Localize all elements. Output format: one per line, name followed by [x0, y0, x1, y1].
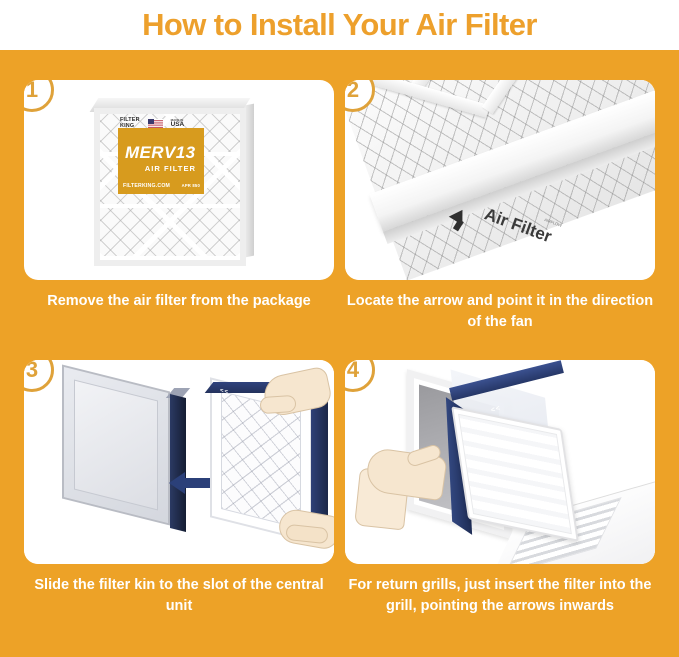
air-filter-subtitle: AIR FILTER	[123, 164, 196, 173]
step-3-artwork: <<	[24, 360, 334, 564]
label-footer: FILTERKING.COM APR 850	[123, 183, 200, 189]
merv-label-sticker: MERV13 AIR FILTER FILTERKING.COM APR 850	[118, 128, 204, 194]
page-title: How to Install Your Air Filter	[142, 7, 537, 43]
brand-row: FILTER KING MADE IN USA	[120, 117, 240, 129]
step-2-card: Air Filter AIRFLOW 2	[345, 80, 655, 280]
usa-flag-icon	[148, 119, 163, 128]
step-4-caption: For return grills, just insert the filte…	[345, 575, 655, 616]
step-1: FILTER KING MADE IN USA	[24, 80, 334, 312]
step-2-number: 2	[347, 80, 359, 101]
steps-grid: FILTER KING MADE IN USA	[0, 50, 679, 657]
unit-inner-panel	[74, 380, 158, 511]
step-3-card: << 3	[24, 360, 334, 564]
filter-king-logo: FILTER KING	[120, 117, 140, 129]
brand-line-1: FILTER	[120, 117, 140, 123]
step-4: << 4 For return grills, just insert the …	[345, 360, 655, 616]
step-1-number: 1	[26, 80, 38, 101]
website-text: FILTERKING.COM	[123, 183, 170, 189]
step-4-card: << 4	[345, 360, 655, 564]
filter-front-face: FILTER KING MADE IN USA	[94, 108, 246, 266]
merv-rating-text: MERV13	[125, 144, 199, 161]
step-3-number: 3	[26, 360, 38, 381]
step-4-number: 4	[347, 360, 359, 381]
step-2: Air Filter AIRFLOW 2 Locate the arrow an…	[345, 80, 655, 332]
central-unit-slot	[62, 365, 170, 526]
step-4-artwork: <<	[345, 360, 655, 564]
poster-body: FILTER KING MADE IN USA	[0, 50, 679, 657]
apr-rating-text: APR 850	[182, 183, 200, 188]
hand-upper-fingers	[259, 395, 296, 414]
infographic-poster: How to Install Your Air Filter	[0, 0, 679, 657]
made-in-usa-text: MADE IN USA	[171, 119, 185, 128]
grill-slats	[458, 414, 572, 535]
step-3-caption: Slide the filter kin to the slot of the …	[24, 575, 334, 616]
country-label: USA	[171, 121, 185, 128]
filter-corner-photo: Air Filter AIRFLOW	[345, 80, 655, 280]
step-2-caption: Locate the arrow and point it in the dir…	[345, 291, 655, 332]
poster-header: How to Install Your Air Filter	[0, 0, 679, 50]
step-1-artwork: FILTER KING MADE IN USA	[24, 80, 334, 280]
unit-slot-opening	[170, 394, 186, 532]
step-2-artwork: Air Filter AIRFLOW	[345, 80, 655, 280]
brand-line-2: KING	[120, 123, 134, 129]
step-1-card: FILTER KING MADE IN USA	[24, 80, 334, 280]
step-1-caption: Remove the air filter from the package	[24, 291, 334, 312]
step-3: << 3 Slide the filter kin to the slot of…	[24, 360, 334, 616]
air-filter-product-image: FILTER KING MADE IN USA	[86, 94, 276, 266]
